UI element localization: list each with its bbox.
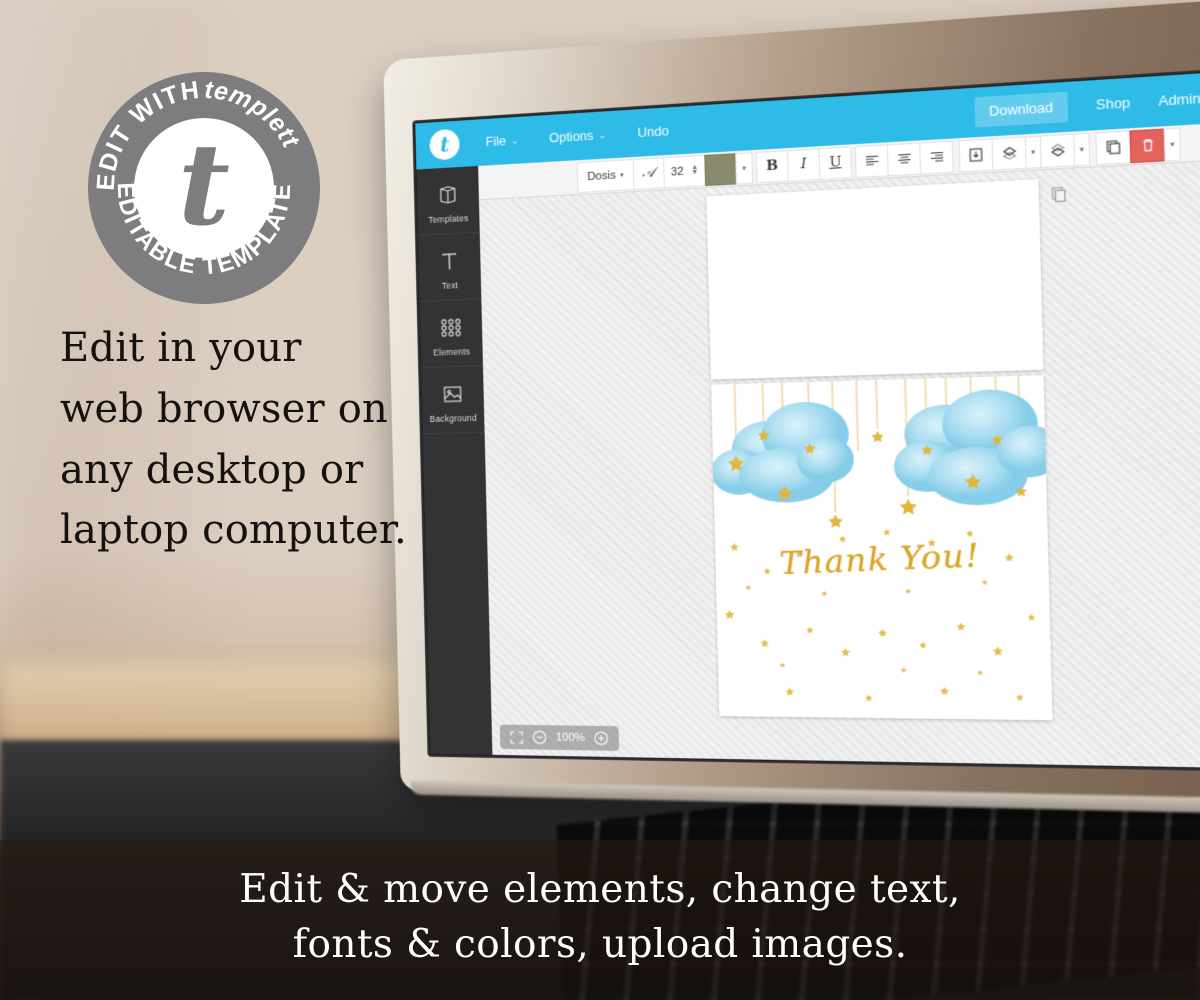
headline-line-4: laptop computer.	[60, 500, 420, 561]
zoom-out-icon[interactable]	[532, 730, 547, 744]
badge-arc-text: EDIT WITH templett EDITABLE TEMPLATE	[88, 72, 320, 304]
chevron-down-icon: ⌄	[598, 129, 606, 141]
font-family-select[interactable]: Dosis ▾	[577, 159, 635, 193]
toolbar-group-arrange: ▾ ▾	[960, 132, 1091, 172]
topbar-menu-right: Download Shop Admin ⌄ Help	[974, 77, 1200, 127]
page-headline: Edit in your web browser on any desktop …	[60, 318, 420, 561]
download-button[interactable]: Download	[974, 92, 1068, 128]
menu-item-options-label: Options	[549, 128, 594, 145]
templett-logo[interactable]: t	[429, 129, 460, 161]
menu-item-admin[interactable]: Admin ⌄	[1158, 90, 1200, 109]
sidebar-item-text-label: Text	[421, 279, 479, 292]
toolbar-group-align	[856, 140, 954, 177]
delete-button[interactable]	[1129, 128, 1165, 163]
send-backward-dropdown[interactable]: ▾	[1073, 132, 1090, 166]
chevron-down-icon: ⌄	[511, 135, 519, 147]
bring-forward-button[interactable]	[992, 136, 1027, 170]
zoom-in-icon[interactable]	[594, 731, 609, 746]
laptop: t File ⌄ Options ⌄ Undo	[383, 0, 1200, 811]
font-style-button[interactable]: 𝒜	[633, 157, 665, 190]
menu-item-shop[interactable]: Shop	[1096, 95, 1131, 112]
sidebar-item-elements[interactable]: Elements	[420, 299, 483, 368]
menu-item-admin-label: Admin	[1158, 91, 1200, 109]
sidebar-item-text[interactable]: Text	[418, 233, 481, 302]
background-icon	[423, 378, 482, 410]
svg-text:EDITABLE TEMPLATE: EDITABLE TEMPLATE	[112, 182, 297, 280]
chevron-down-icon: ▾	[1031, 147, 1035, 156]
sidebar-item-background-label: Background	[424, 413, 482, 425]
chevron-down-icon: ▾	[620, 170, 624, 178]
sidebar-item-templates[interactable]: Templates	[416, 166, 479, 236]
headline-line-1: Edit in your	[60, 318, 420, 379]
chevron-down-icon: ▾	[1080, 145, 1084, 154]
align-center-button[interactable]	[887, 142, 921, 176]
thank-you-card-page[interactable]: Thank You!	[711, 375, 1052, 720]
delete-dropdown[interactable]: ▾	[1164, 127, 1182, 161]
svg-text:templett: templett	[204, 76, 306, 153]
elements-icon	[422, 312, 481, 344]
italic-label: I	[801, 156, 807, 172]
script-a-icon: 𝒜	[642, 165, 655, 181]
text-color-dropdown[interactable]: ▾	[735, 152, 753, 184]
topbar-menu-left: File ⌄ Options ⌄ Undo	[485, 124, 669, 149]
font-size-stepper[interactable]: 32 ▲▼	[663, 154, 706, 187]
sidebar-spacer	[423, 433, 493, 755]
text-icon	[420, 245, 478, 278]
caption-line-2: fonts & colors, upload images.	[0, 917, 1200, 972]
zoom-controls: 100%	[500, 725, 620, 751]
bold-label: B	[766, 158, 778, 174]
zoom-level-label: 100%	[556, 731, 585, 744]
templett-badge: t EDIT WITH templett EDITABLE TEMPLATE	[88, 72, 320, 304]
caption-line-1: Edit & move elements, change text,	[0, 862, 1200, 917]
app-body: Templates Text	[416, 118, 1200, 769]
underline-label: U	[829, 154, 841, 171]
page-stack: Thank You! + Add a Blank Page	[706, 179, 1053, 765]
bold-button[interactable]: B	[756, 150, 789, 183]
headline-line-2: web browser on	[60, 379, 420, 440]
sidebar-item-background[interactable]: Background	[421, 366, 484, 434]
sidebar-item-elements-label: Elements	[423, 346, 481, 358]
screen-bezel: t File ⌄ Options ⌄ Undo	[412, 64, 1200, 773]
canvas-viewport[interactable]: Thank You! + Add a Blank Page	[479, 156, 1200, 769]
fit-screen-icon[interactable]	[510, 730, 523, 743]
headline-line-3: any desktop or	[60, 440, 420, 501]
app-screen: t File ⌄ Options ⌄ Undo	[415, 67, 1200, 769]
font-family-value: Dosis	[587, 169, 616, 183]
duplicate-page-icon[interactable]	[1051, 186, 1067, 208]
canvas-work-area: Dosis ▾ 𝒜 32 ▲▼	[478, 118, 1200, 769]
align-left-button[interactable]	[855, 144, 889, 178]
chevron-down-icon: ▾	[1170, 139, 1174, 148]
duplicate-button[interactable]	[1095, 130, 1131, 165]
svg-text:EDIT WITH: EDIT WITH	[92, 76, 202, 192]
italic-button[interactable]: I	[787, 148, 820, 181]
stepper-arrows-icon: ▲▼	[691, 166, 699, 175]
menu-item-options[interactable]: Options ⌄	[549, 128, 607, 146]
fit-to-box-button[interactable]	[959, 138, 994, 172]
menu-item-file[interactable]: File ⌄	[485, 133, 518, 149]
toolbar-group-actions: ▾	[1097, 127, 1182, 165]
text-color-swatch[interactable]	[704, 153, 737, 186]
toolbar-group-style: B I U	[757, 146, 853, 183]
menu-item-undo[interactable]: Undo	[637, 124, 669, 140]
underline-button[interactable]: U	[819, 146, 853, 180]
blank-page[interactable]	[706, 179, 1043, 379]
templates-icon	[419, 178, 477, 211]
align-right-button[interactable]	[919, 140, 954, 174]
laptop-lid: t File ⌄ Options ⌄ Undo	[383, 0, 1200, 811]
font-size-value: 32	[671, 165, 684, 178]
chevron-down-icon: ▾	[742, 164, 746, 173]
menu-item-file-label: File	[485, 134, 506, 149]
menu-item-undo-label: Undo	[637, 124, 669, 140]
sidebar-item-templates-label: Templates	[419, 213, 477, 226]
bottom-caption: Edit & move elements, change text, fonts…	[0, 862, 1200, 973]
logo-letter: t	[440, 134, 450, 155]
send-backward-button[interactable]	[1040, 133, 1076, 167]
